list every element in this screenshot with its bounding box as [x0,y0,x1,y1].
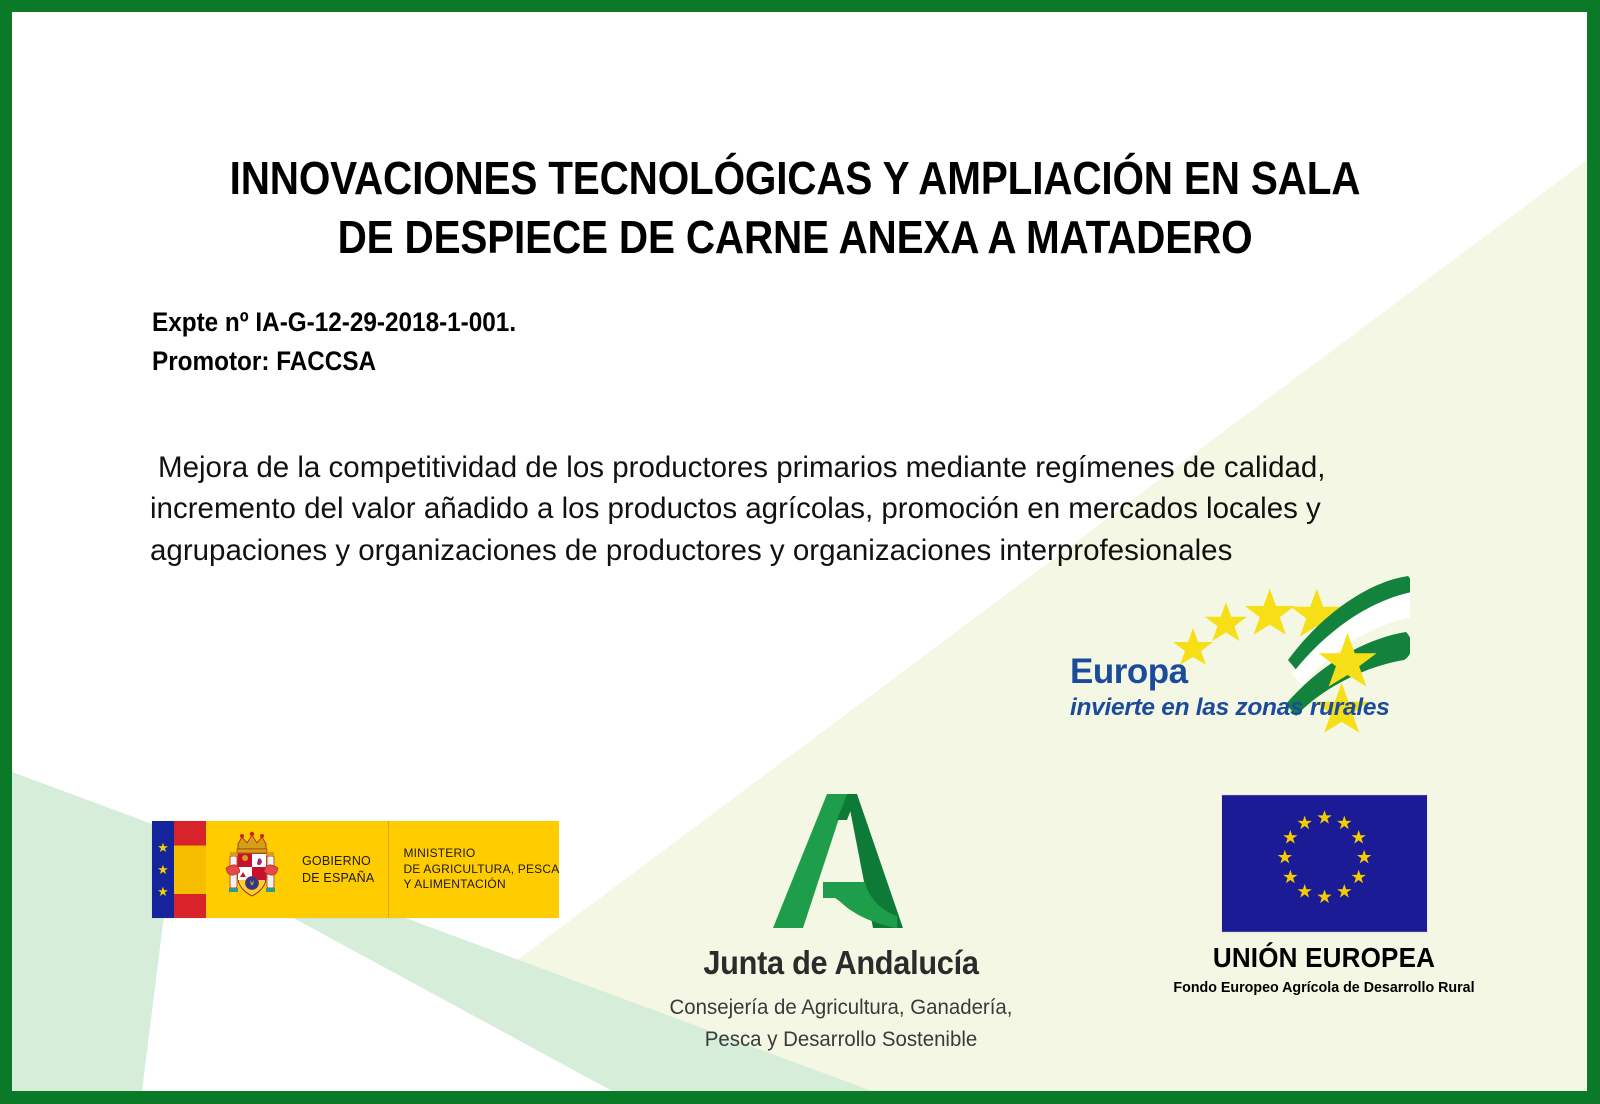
gobierno-line-2: DE ESPAÑA [302,870,374,886]
eu-flag-icon [1221,794,1428,933]
expediente-number: Expte nº IA-G-12-29-2018-1-001. [152,303,516,342]
ministerio-line-1: MINISTERIO [403,846,559,862]
junta-andalucia-name: Junta de Andalucía [668,944,1014,982]
junta-de-andalucia-logo: Junta de Andalucía Consejería de Agricul… [655,786,1027,1056]
ministerio-label: MINISTERIO DE AGRICULTURA, PESCA Y ALIME… [403,846,559,893]
consejeria-line-1: Consejería de Agricultura, Ganadería, [664,991,1017,1023]
poster-canvas: INNOVACIONES TECNOLÓGICAS Y AMPLIACIÓN E… [0,0,1600,1104]
union-europea-logo: UNIÓN EUROPEA Fondo Europeo Agrícola de … [1144,794,1504,996]
europa-wordmark: Europa [1070,652,1188,692]
consejeria-line-2: Pesca y Desarrollo Sostenible [664,1023,1017,1055]
junta-andalucia-a-icon [761,786,921,936]
frame-border-bottom [0,1091,1600,1104]
europa-tagline: invierte en las zonas rurales [1070,694,1389,722]
gobierno-label: GOBIERNO DE ESPAÑA [302,853,374,886]
eu-strip-star-icon: ★ [157,863,169,876]
gobierno-de-espana-logo: ★ ★ ★ [152,821,556,918]
poster-content: INNOVACIONES TECNOLÓGICAS Y AMPLIACIÓN E… [0,0,1600,1104]
eu-strip-icon: ★ ★ ★ [152,821,174,918]
page-title: INNOVACIONES TECNOLÓGICAS Y AMPLIACIÓN E… [210,149,1380,267]
promotor-name: Promotor: FACCSA [152,342,516,381]
expediente-block: Expte nº IA-G-12-29-2018-1-001. Promotor… [152,303,516,381]
eu-strip-star-icon: ★ [157,841,169,854]
frame-border-left [0,0,12,1104]
spain-coat-of-arms-icon [216,828,288,912]
gobierno-yellow-panel: GOBIERNO DE ESPAÑA MINISTERIO DE AGRICUL… [206,821,559,918]
ministerio-line-2: DE AGRICULTURA, PESCA [403,862,559,878]
frame-border-top [0,0,1600,12]
eu-strip-star-icon: ★ [157,885,169,898]
union-europea-name: UNIÓN EUROPEA [1157,942,1492,974]
junta-andalucia-consejeria: Consejería de Agricultura, Ganadería, Pe… [664,991,1017,1056]
gobierno-divider [388,821,389,918]
gobierno-line-1: GOBIERNO [302,853,374,869]
europa-feader-logo: Europa invierte en las zonas rurales [1062,556,1402,746]
union-europea-fund: Fondo Europeo Agrícola de Desarrollo Rur… [1153,979,1495,996]
spain-flag-icon [174,821,206,918]
ministerio-line-3: Y ALIMENTACIÓN [403,877,559,893]
frame-border-right [1587,0,1600,1104]
